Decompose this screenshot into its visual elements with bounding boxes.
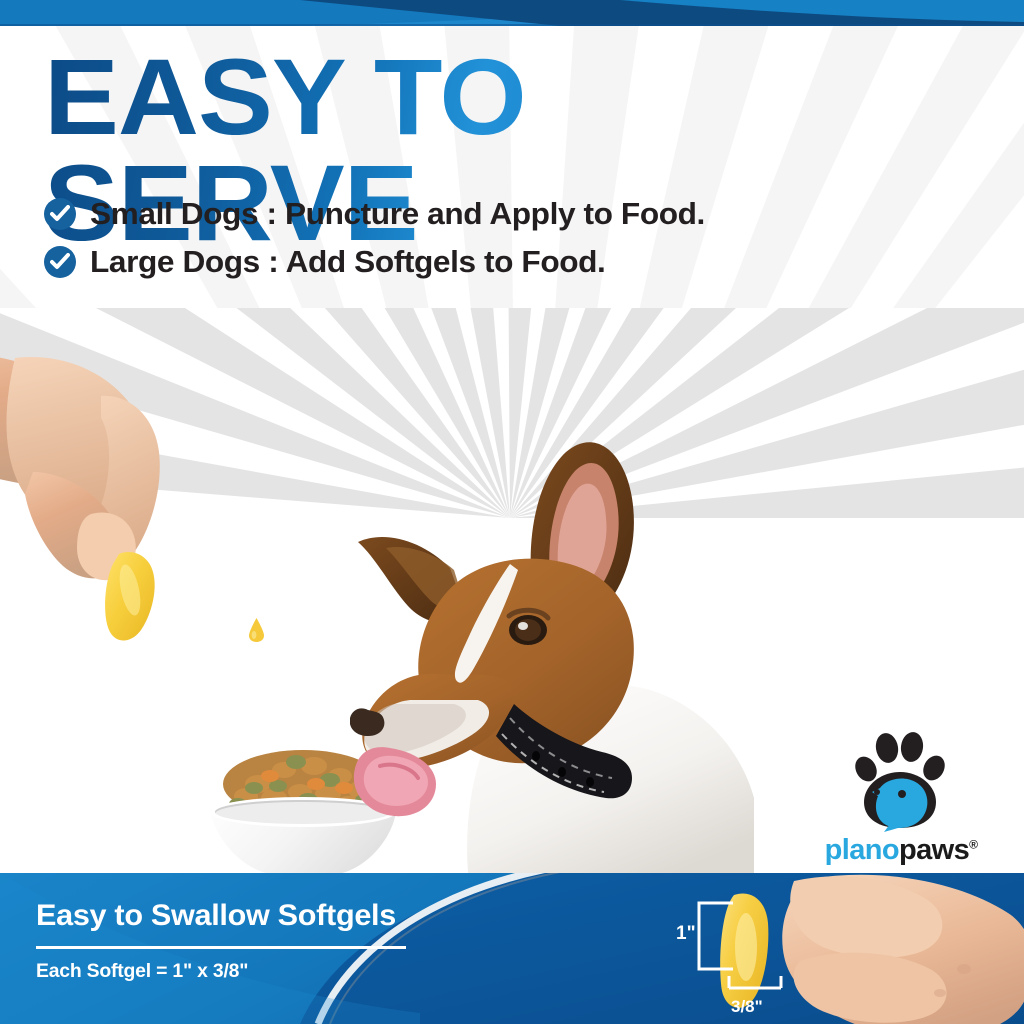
hero-photo-area: planopaws® bbox=[0, 308, 1024, 873]
brand-name-paws: paws bbox=[899, 834, 969, 866]
header-section: EASY TO SERVE Small Dogs : Puncture and … bbox=[0, 26, 1024, 308]
height-dimension-guide-icon bbox=[695, 901, 735, 971]
list-item: Small Dogs : Puncture and Apply to Food. bbox=[44, 196, 984, 232]
top-banner-swoosh-icon bbox=[0, 0, 1024, 26]
check-circle-icon bbox=[44, 198, 76, 230]
dog-photo bbox=[350, 418, 770, 873]
width-dimension-guide-icon bbox=[726, 974, 784, 992]
list-item: Large Dogs : Add Softgels to Food. bbox=[44, 244, 984, 280]
instruction-list: Small Dogs : Puncture and Apply to Food.… bbox=[44, 196, 984, 292]
registered-mark: ® bbox=[969, 837, 977, 851]
instruction-text: Large Dogs : Add Softgels to Food. bbox=[90, 244, 605, 280]
width-dimension-label: 3/8" bbox=[731, 997, 763, 1017]
top-decorative-banner bbox=[0, 0, 1024, 26]
instruction-text: Small Dogs : Puncture and Apply to Food. bbox=[90, 196, 705, 232]
divider bbox=[36, 946, 406, 949]
bottom-subtitle: Each Softgel = 1" x 3/8" bbox=[36, 961, 248, 983]
check-circle-icon bbox=[44, 246, 76, 278]
bottom-title: Easy to Swallow Softgels bbox=[36, 899, 396, 933]
brand-name-plano: plano bbox=[825, 834, 899, 866]
paw-with-dog-head-icon bbox=[846, 732, 956, 832]
brand-logo: planopaws® bbox=[806, 732, 996, 865]
oil-drop-icon bbox=[248, 618, 265, 642]
product-infographic: EASY TO SERVE Small Dogs : Puncture and … bbox=[0, 0, 1024, 1024]
bottom-banner: Easy to Swallow Softgels Each Softgel = … bbox=[0, 873, 1024, 1024]
brand-wordmark: planopaws® bbox=[806, 836, 996, 865]
hand-holding-softgel-icon bbox=[0, 322, 305, 652]
height-dimension-label: 1" bbox=[676, 923, 696, 945]
